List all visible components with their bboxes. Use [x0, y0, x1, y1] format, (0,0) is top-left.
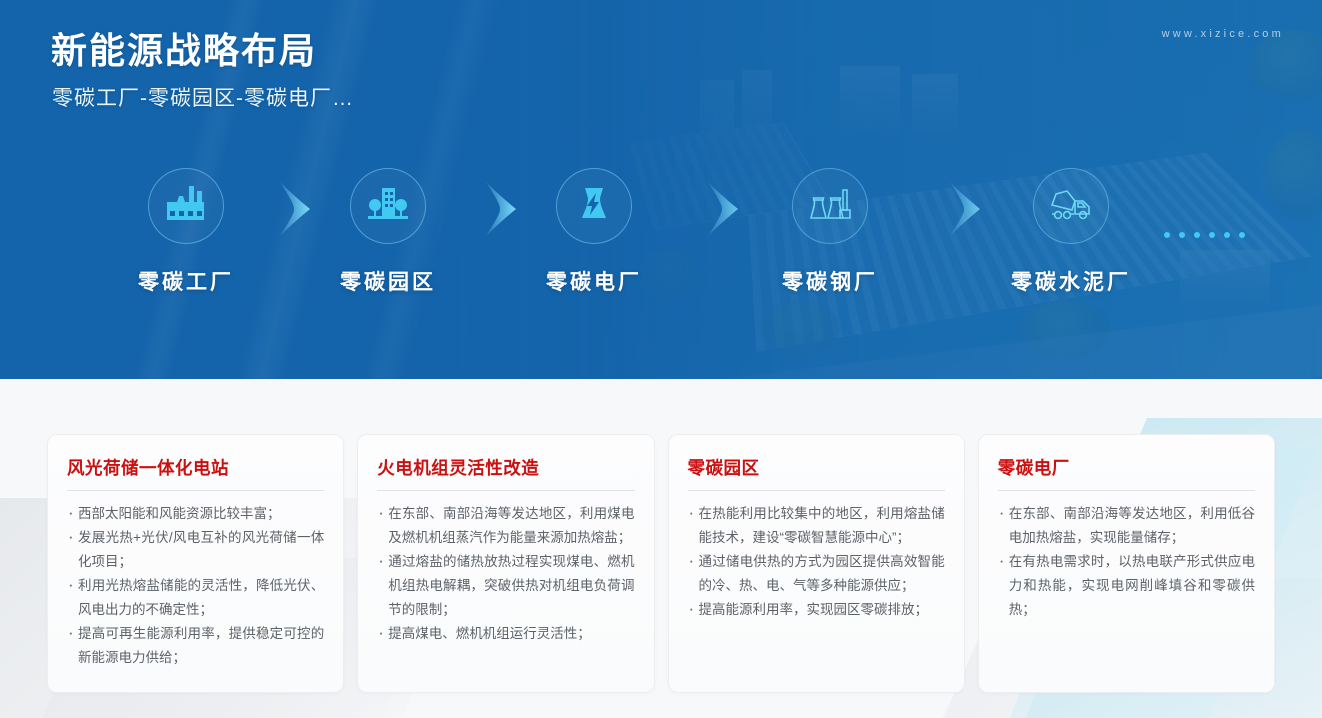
- info-card[interactable]: 风光荷储一体化电站 西部太阳能和风能资源比较丰富； 发展光热+光伏/风电互补的风…: [47, 434, 344, 693]
- dot: [1194, 232, 1200, 238]
- dot: [1179, 232, 1185, 238]
- flow-step-label: 零碳水泥厂: [986, 266, 1156, 296]
- cards-section: 风光荷储一体化电站 西部太阳能和风能资源比较丰富； 发展光热+光伏/风电互补的风…: [0, 379, 1322, 718]
- card-bullet: 提高可再生能源利用率，提供稳定可控的新能源电力供给；: [67, 622, 324, 670]
- flow-arrow-3-icon: [706, 182, 740, 236]
- page-title: 新能源战略布局: [51, 28, 317, 74]
- factory-icon: [164, 184, 208, 229]
- flow-step-circle: [556, 168, 632, 244]
- hero-banner: 新能源战略布局 零碳工厂-零碳园区-零碳电厂… www.xizice.com: [0, 0, 1322, 379]
- card-bullet: 通过熔盐的储热放热过程实现煤电、燃机机组热电解耦，突破供热对机组电负荷调节的限制…: [377, 550, 634, 622]
- card-title: 火电机组灵活性改造: [377, 455, 634, 481]
- flow-step-label: 零碳钢厂: [745, 266, 915, 296]
- flow-step-circle: [148, 168, 224, 244]
- card-bullet: 在东部、南部沿海等发达地区，利用低谷电加热熔盐，实现能量储存；: [998, 502, 1255, 550]
- flow-step-circle: [792, 168, 868, 244]
- card-bullet-list: 西部太阳能和风能资源比较丰富； 发展光热+光伏/风电互补的风光荷储一体化项目； …: [67, 502, 324, 670]
- card-divider: [377, 490, 634, 491]
- power-plant-bolt-icon: [574, 184, 614, 229]
- card-divider: [688, 490, 945, 491]
- card-bullet: 在有热电需求时，以热电联产形式供应电力和热能，实现电网削峰填谷和零碳供热；: [998, 550, 1255, 622]
- card-bullet: 发展光热+光伏/风电互补的风光荷储一体化项目；: [67, 526, 324, 574]
- buildings-trees-icon: [366, 184, 410, 229]
- page-subtitle: 零碳工厂-零碳园区-零碳电厂…: [52, 84, 354, 114]
- card-title: 风光荷储一体化电站: [67, 455, 324, 481]
- cement-mixer-truck-icon: [1047, 185, 1095, 228]
- flow-step-zero-carbon-cement-plant[interactable]: 零碳水泥厂: [986, 168, 1156, 296]
- card-bullet: 提高煤电、燃机机组运行灵活性；: [377, 622, 634, 646]
- flow-step-zero-carbon-power-plant[interactable]: 零碳电厂: [509, 168, 679, 296]
- flow-step-circle: [350, 168, 426, 244]
- flow-continuation-dots: [1164, 232, 1245, 238]
- flow-step-zero-carbon-steel-plant[interactable]: 零碳钢厂: [745, 168, 915, 296]
- card-bullet: 在东部、南部沿海等发达地区，利用煤电及燃机机组蒸汽作为能量来源加热熔盐；: [377, 502, 634, 550]
- info-card[interactable]: 火电机组灵活性改造 在东部、南部沿海等发达地区，利用煤电及燃机机组蒸汽作为能量来…: [357, 434, 654, 693]
- card-divider: [998, 490, 1255, 491]
- zero-carbon-flow: 零碳工厂: [0, 168, 1322, 308]
- flow-step-label: 零碳电厂: [509, 266, 679, 296]
- card-bullet-list: 在热能利用比较集中的地区，利用熔盐储能技术，建设“零碳智慧能源中心”； 通过储电…: [688, 502, 945, 622]
- dot: [1224, 232, 1230, 238]
- steel-plant-icon: [807, 184, 853, 229]
- card-divider: [67, 490, 324, 491]
- flow-step-zero-carbon-park[interactable]: 零碳园区: [303, 168, 473, 296]
- flow-step-label: 零碳工厂: [101, 266, 271, 296]
- info-card[interactable]: 零碳园区 在热能利用比较集中的地区，利用熔盐储能技术，建设“零碳智慧能源中心”；…: [668, 434, 965, 693]
- card-bullet-list: 在东部、南部沿海等发达地区，利用低谷电加热熔盐，实现能量储存； 在有热电需求时，…: [998, 502, 1255, 622]
- card-title: 零碳园区: [688, 455, 945, 481]
- card-title: 零碳电厂: [998, 455, 1255, 481]
- flow-step-circle: [1033, 168, 1109, 244]
- card-bullet: 提高能源利用率，实现园区零碳排放；: [688, 598, 945, 622]
- flow-arrow-4-icon: [948, 182, 982, 236]
- dot: [1239, 232, 1245, 238]
- card-bullet: 西部太阳能和风能资源比较丰富；: [67, 502, 324, 526]
- flow-step-zero-carbon-factory[interactable]: 零碳工厂: [101, 168, 271, 296]
- site-watermark: www.xizice.com: [1162, 28, 1284, 40]
- dot: [1164, 232, 1170, 238]
- card-bullet: 在热能利用比较集中的地区，利用熔盐储能技术，建设“零碳智慧能源中心”；: [688, 502, 945, 550]
- card-bullet: 通过储电供热的方式为园区提供高效智能的冷、热、电、气等多种能源供应；: [688, 550, 945, 598]
- flow-step-label: 零碳园区: [303, 266, 473, 296]
- slide-root: 新能源战略布局 零碳工厂-零碳园区-零碳电厂… www.xizice.com: [0, 0, 1322, 718]
- info-card-list: 风光荷储一体化电站 西部太阳能和风能资源比较丰富； 发展光热+光伏/风电互补的风…: [0, 434, 1322, 693]
- info-card[interactable]: 零碳电厂 在东部、南部沿海等发达地区，利用低谷电加热熔盐，实现能量储存； 在有热…: [978, 434, 1275, 693]
- card-bullet: 利用光热熔盐储能的灵活性，降低光伏、风电出力的不确定性；: [67, 574, 324, 622]
- dot: [1209, 232, 1215, 238]
- card-bullet-list: 在东部、南部沿海等发达地区，利用煤电及燃机机组蒸汽作为能量来源加热熔盐； 通过熔…: [377, 502, 634, 646]
